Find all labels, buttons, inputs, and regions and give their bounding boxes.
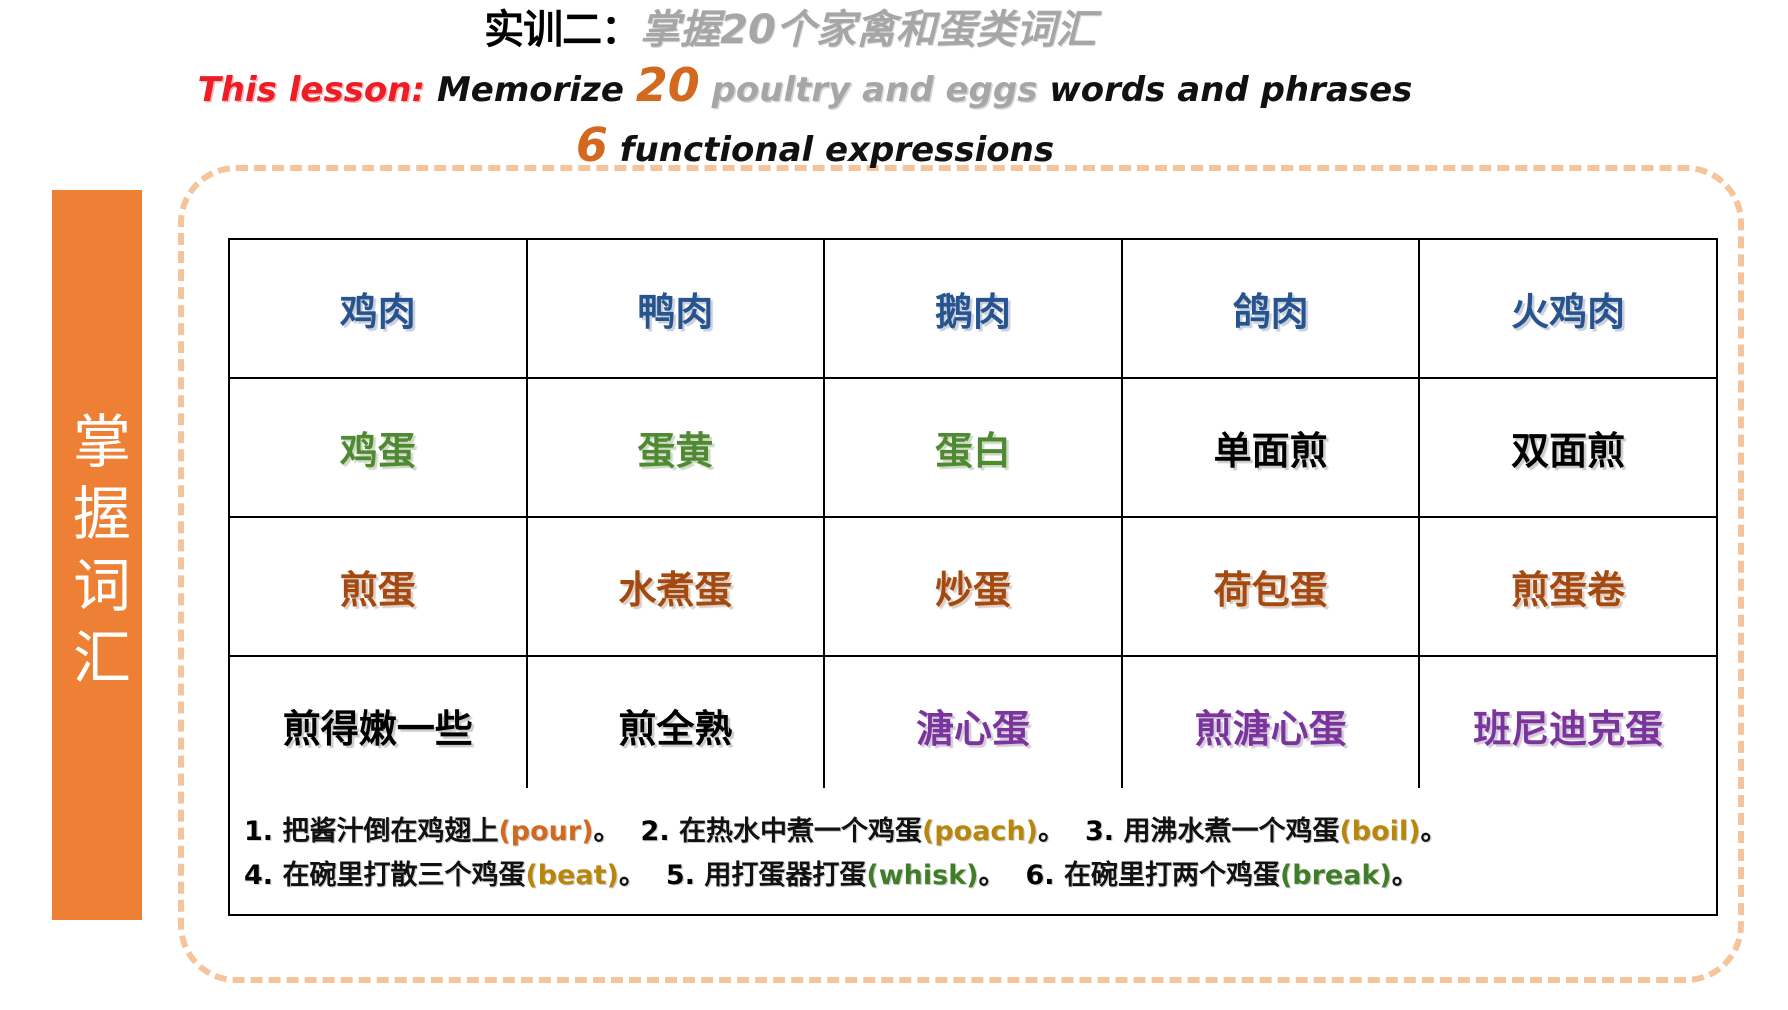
expression-5-english: (whisk)	[866, 860, 978, 891]
expression-row-1: 1. 把酱汁倒在鸡翅上(pour)。2. 在热水中煮一个鸡蛋(poach)。3.…	[244, 810, 1704, 854]
vocabulary-cell-r3-c5: 煎蛋卷	[1419, 517, 1717, 656]
expression-3-english: (boil)	[1339, 816, 1420, 847]
vocabulary-cell-r2-c5: 双面煎	[1419, 378, 1717, 517]
expression-5-punct: 。	[979, 860, 1006, 891]
expression-count: 6	[576, 118, 608, 172]
expression-1-number: 1.	[244, 816, 273, 847]
vocabulary-cell-r4-c1: 煎得嫩一些	[229, 656, 527, 795]
vocabulary-row: 鸡肉鸭肉鹅肉鸽肉火鸡肉	[229, 239, 1717, 378]
slide-header: 实训二：掌握20个家禽和蛋类词汇 This lesson: Memorize 2…	[0, 0, 1788, 185]
page-title-prefix: 实训二：	[484, 7, 640, 53]
vocabulary-cell-r4-c3: 溏心蛋	[824, 656, 1122, 795]
vocabulary-cell-r3-c4: 荷包蛋	[1122, 517, 1420, 656]
lesson-expression-line: 6 functional expressions	[0, 122, 1630, 173]
expression-2-chinese: 在热水中煮一个鸡蛋	[679, 816, 922, 847]
expression-3-number: 3.	[1085, 816, 1114, 847]
section-tab-label: 掌握词汇	[61, 411, 133, 699]
vocabulary-table-body: 鸡肉鸭肉鹅肉鸽肉火鸡肉鸡蛋蛋黄蛋白单面煎双面煎煎蛋水煮蛋炒蛋荷包蛋煎蛋卷煎得嫩一…	[229, 239, 1717, 795]
expression-row-2: 4. 在碗里打散三个鸡蛋(beat)。5. 用打蛋器打蛋(whisk)。6. 在…	[244, 854, 1704, 898]
vocabulary-cell-r1-c4: 鸽肉	[1122, 239, 1420, 378]
expression-3-punct: 。	[1421, 816, 1448, 847]
page-title-subject: 掌握20个家禽和蛋类词汇	[640, 7, 1096, 53]
lesson-topic: poultry and eggs	[712, 70, 1038, 110]
expression-1-english: (pour)	[498, 816, 593, 847]
lesson-objective-tail: words and phrases	[1049, 70, 1412, 110]
vocabulary-cell-r2-c1: 鸡蛋	[229, 378, 527, 517]
lesson-word-count: 20	[636, 58, 700, 112]
expression-1-chinese: 把酱汁倒在鸡翅上	[282, 816, 498, 847]
vocabulary-cell-r3-c2: 水煮蛋	[527, 517, 825, 656]
expression-2-english: (poach)	[922, 816, 1038, 847]
expression-5-number: 5.	[666, 860, 695, 891]
vocabulary-cell-r2-c3: 蛋白	[824, 378, 1122, 517]
vocabulary-cell-r4-c2: 煎全熟	[527, 656, 825, 795]
expression-4-chinese: 在碗里打散三个鸡蛋	[282, 860, 525, 891]
expression-2-punct: 。	[1038, 816, 1065, 847]
vocabulary-cell-r2-c2: 蛋黄	[527, 378, 825, 517]
expression-6-number: 6.	[1026, 860, 1055, 891]
expression-4-punct: 。	[619, 860, 646, 891]
expression-4-english: (beat)	[525, 860, 618, 891]
vocabulary-row: 煎得嫩一些煎全熟溏心蛋煎溏心蛋班尼迪克蛋	[229, 656, 1717, 795]
page-title: 实训二：掌握20个家禽和蛋类词汇	[0, 4, 1580, 56]
section-tab-vocabulary: 掌握词汇	[52, 190, 142, 920]
vocabulary-table: 鸡肉鸭肉鹅肉鸽肉火鸡肉鸡蛋蛋黄蛋白单面煎双面煎煎蛋水煮蛋炒蛋荷包蛋煎蛋卷煎得嫩一…	[228, 238, 1718, 796]
expression-6-punct: 。	[1392, 860, 1419, 891]
functional-expressions-box: 1. 把酱汁倒在鸡翅上(pour)。2. 在热水中煮一个鸡蛋(poach)。3.…	[228, 788, 1718, 916]
vocabulary-cell-r1-c1: 鸡肉	[229, 239, 527, 378]
vocabulary-row: 鸡蛋蛋黄蛋白单面煎双面煎	[229, 378, 1717, 517]
vocabulary-cell-r1-c3: 鹅肉	[824, 239, 1122, 378]
vocabulary-cell-r2-c4: 单面煎	[1122, 378, 1420, 517]
expression-4-number: 4.	[244, 860, 273, 891]
expression-1-punct: 。	[594, 816, 621, 847]
vocabulary-row: 煎蛋水煮蛋炒蛋荷包蛋煎蛋卷	[229, 517, 1717, 656]
expression-label: functional expressions	[620, 130, 1054, 170]
lesson-label: This lesson:	[198, 70, 425, 110]
vocabulary-cell-r4-c5: 班尼迪克蛋	[1419, 656, 1717, 795]
lesson-verb: Memorize	[437, 70, 624, 110]
expression-5-chinese: 用打蛋器打蛋	[704, 860, 866, 891]
expression-6-chinese: 在碗里打两个鸡蛋	[1064, 860, 1280, 891]
vocabulary-cell-r3-c1: 煎蛋	[229, 517, 527, 656]
expression-3-chinese: 用沸水煮一个鸡蛋	[1123, 816, 1339, 847]
vocabulary-cell-r1-c5: 火鸡肉	[1419, 239, 1717, 378]
lesson-objective-line: This lesson: Memorize 20 poultry and egg…	[0, 62, 1610, 113]
expression-6-english: (break)	[1280, 860, 1392, 891]
vocabulary-cell-r4-c4: 煎溏心蛋	[1122, 656, 1420, 795]
vocabulary-cell-r3-c3: 炒蛋	[824, 517, 1122, 656]
expression-2-number: 2.	[641, 816, 670, 847]
vocabulary-cell-r1-c2: 鸭肉	[527, 239, 825, 378]
